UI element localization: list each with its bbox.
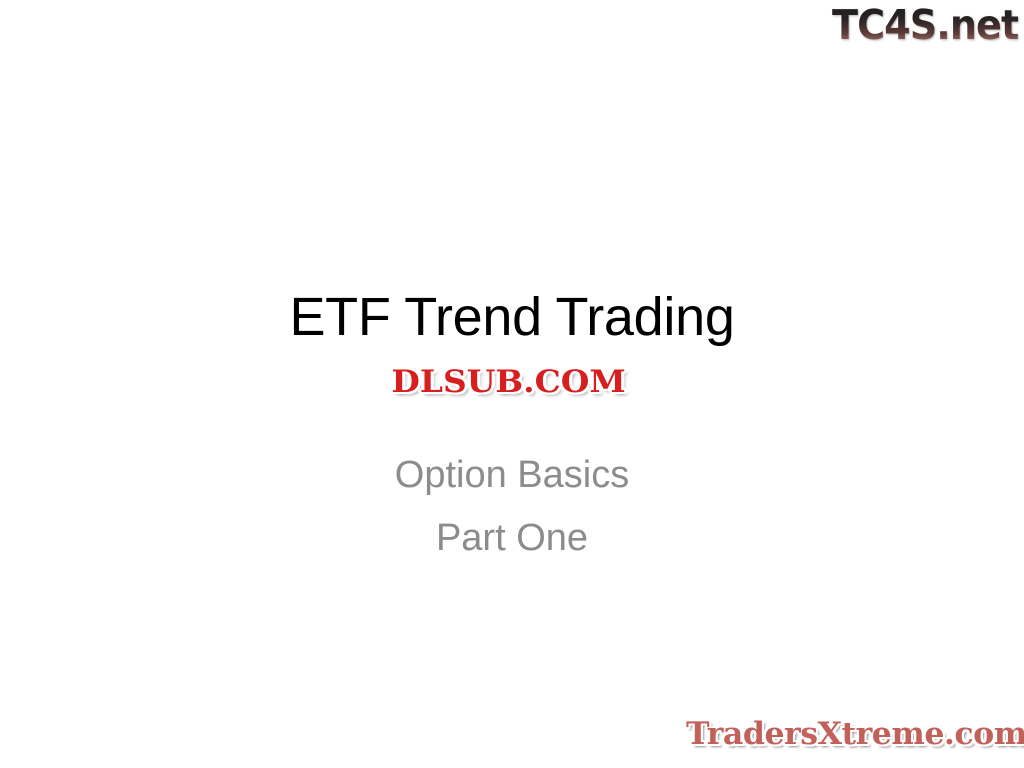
dlsub-watermark-stamp: DLSUB.COM bbox=[363, 363, 655, 401]
subtitle-line-primary: Option Basics bbox=[0, 444, 1024, 507]
tradersxtreme-watermark-logo: TradersXtreme.com bbox=[686, 714, 1024, 754]
title-block: ETF Trend Trading bbox=[0, 286, 1024, 348]
page-title: ETF Trend Trading bbox=[0, 286, 1024, 348]
presentation-slide: TC4S.net ETF Trend Trading DLSUB.COM Opt… bbox=[0, 0, 1024, 768]
dlsub-watermark-text: DLSUB.COM bbox=[392, 365, 626, 399]
subtitle-line-secondary: Part One bbox=[0, 507, 1024, 570]
subtitle-block: Option Basics Part One bbox=[0, 444, 1024, 570]
tc4s-watermark-logo: TC4S.net bbox=[832, 2, 1018, 48]
